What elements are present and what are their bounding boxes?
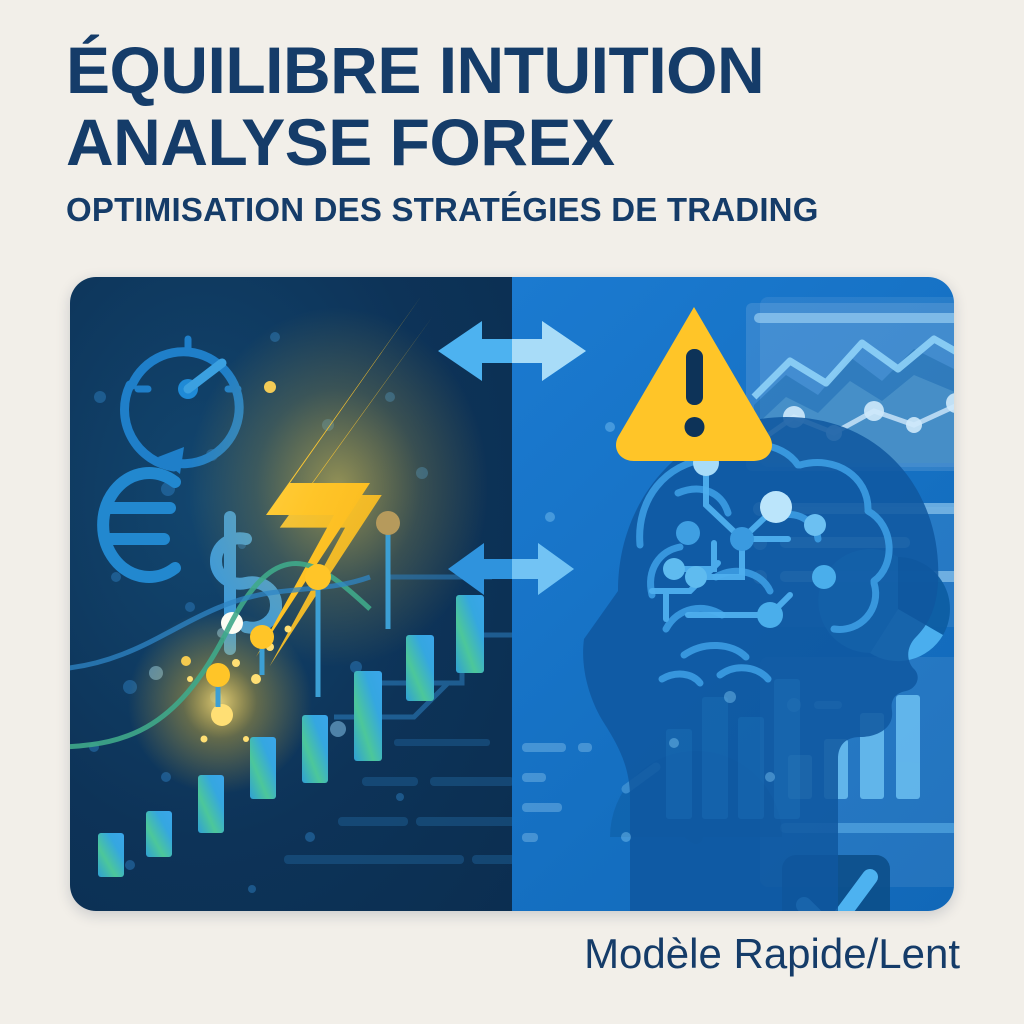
page-title: ÉQUILIBRE INTUITION ANALYSE FOREX OPTIMI… <box>66 34 966 228</box>
right-side-graphics <box>522 297 954 911</box>
poster-canvas: ÉQUILIBRE INTUITION ANALYSE FOREX OPTIMI… <box>0 0 1024 1024</box>
bidirectional-arrow-top <box>438 321 586 381</box>
title-line-2: ANALYSE FOREX <box>66 106 966 178</box>
left-side-graphics <box>70 295 542 893</box>
title-line-1: ÉQUILIBRE INTUITION <box>66 34 966 106</box>
page-subtitle: OPTIMISATION DES STRATÉGIES DE TRADING <box>66 192 966 228</box>
ghost-lines-right <box>522 743 592 842</box>
illustration-panel <box>70 277 954 911</box>
illustration-artwork <box>70 277 954 911</box>
footer-caption: Modèle Rapide/Lent <box>584 930 960 978</box>
